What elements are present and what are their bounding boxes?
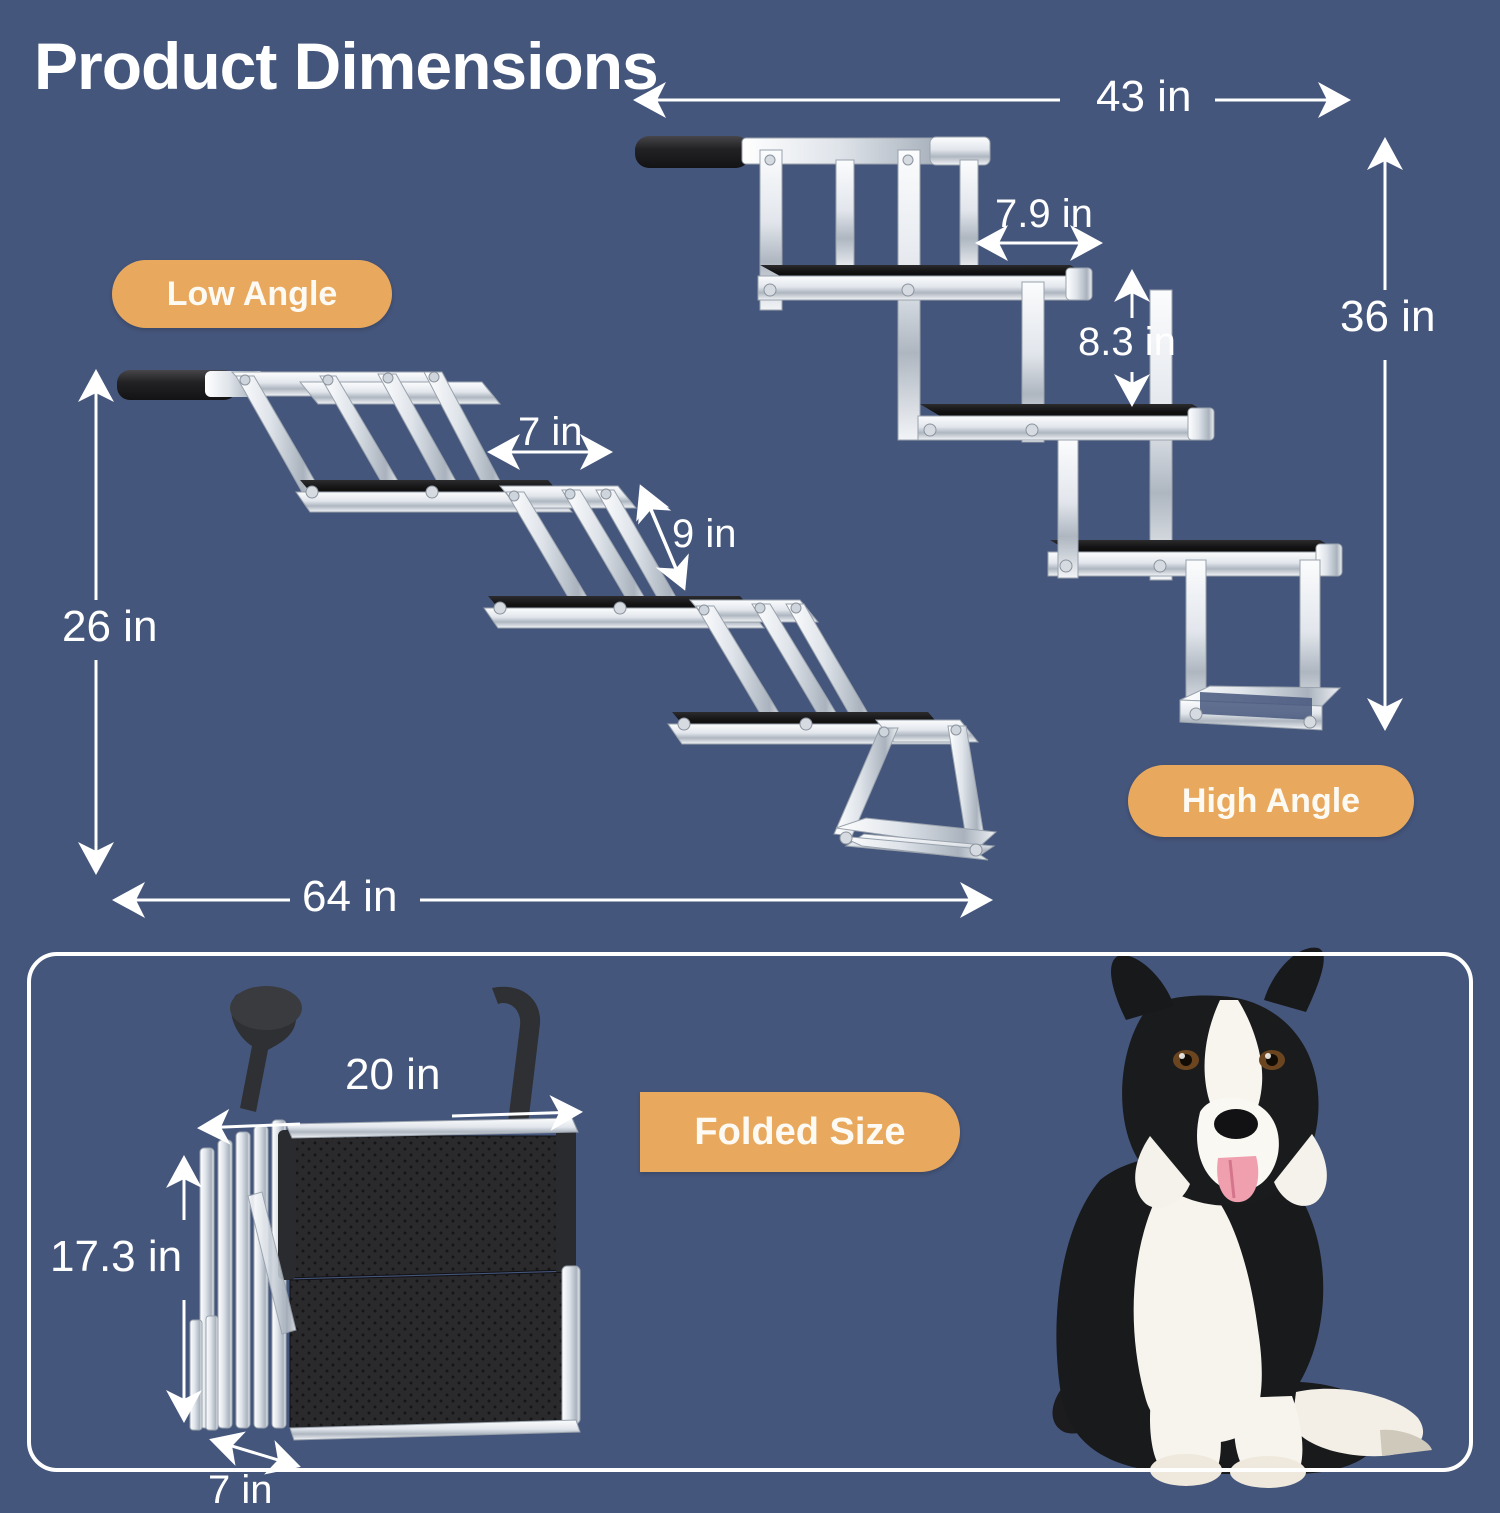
dimension-folded-width: 20 in — [345, 1050, 440, 1100]
dimension-low-angle-height: 26 in — [62, 602, 157, 652]
folded-size-card — [27, 952, 1473, 1472]
page-title: Product Dimensions — [34, 32, 658, 101]
infographic-root: Product Dimensions — [0, 0, 1500, 1500]
dimension-high-angle-height: 36 in — [1340, 292, 1435, 342]
dimension-folded-depth: 7 in — [208, 1468, 273, 1513]
dimension-low-angle-length: 64 in — [302, 872, 397, 922]
badge-high-angle: High Angle — [1128, 765, 1414, 837]
dimension-folded-height: 17.3 in — [50, 1232, 182, 1282]
dimension-high-angle-step-rise: 8.3 in — [1078, 320, 1176, 365]
high-angle-illustration — [635, 136, 1342, 730]
badge-low-angle: Low Angle — [112, 260, 392, 328]
dimension-high-angle-length: 43 in — [1096, 72, 1191, 122]
dimension-high-angle-step-run: 7.9 in — [995, 192, 1093, 237]
dimension-low-angle-step-run: 7 in — [518, 410, 583, 455]
badge-folded-size: Folded Size — [640, 1092, 960, 1172]
dimension-low-angle-step-rise: 9 in — [672, 512, 737, 557]
